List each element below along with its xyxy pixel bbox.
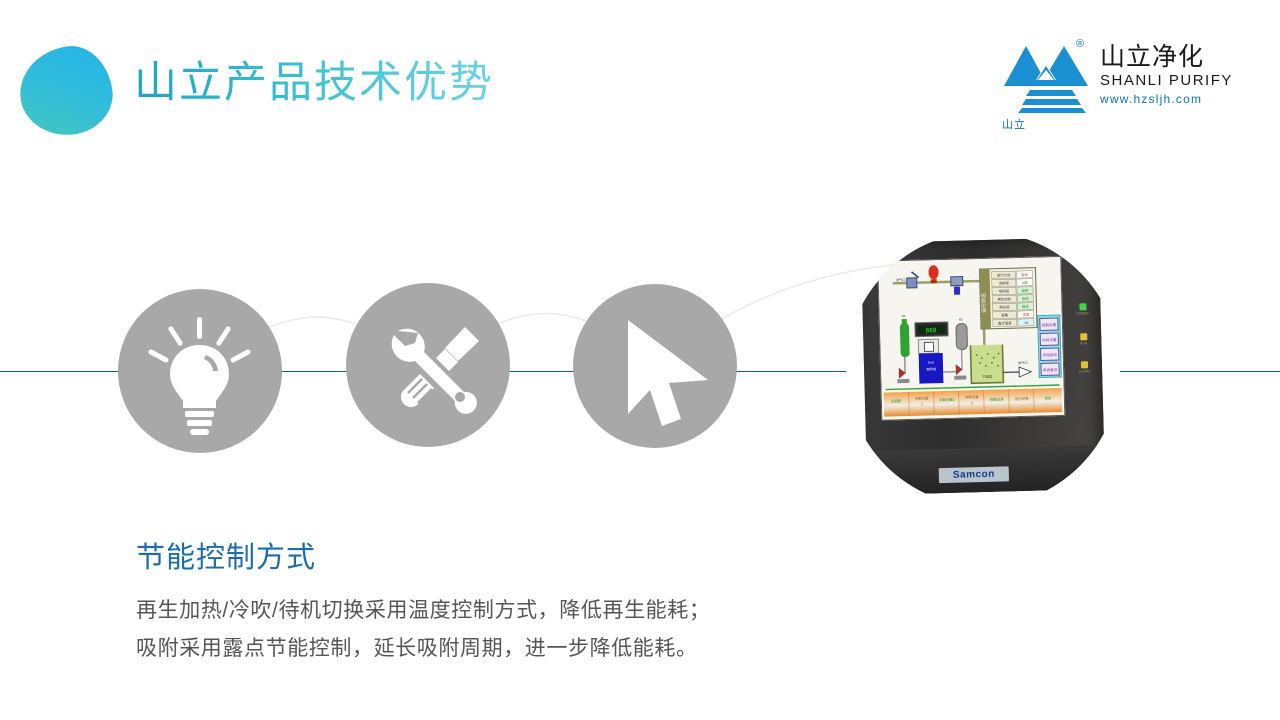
svg-text:运行状态: 运行状态 — [980, 293, 988, 313]
svg-text:888: 888 — [926, 327, 937, 334]
svg-text:吸附塔: 吸附塔 — [926, 366, 937, 371]
svg-text:报警记录: 报警记录 — [990, 396, 1004, 401]
logo-company-cn: 山立净化 — [1100, 44, 1225, 71]
svg-text:加热: 加热 — [1022, 296, 1030, 301]
svg-text:3: 3 — [971, 401, 973, 405]
logo-company-en: SHANLI PURIFY — [1100, 71, 1225, 91]
svg-text:A塔: A塔 — [1022, 280, 1028, 285]
svg-text:正常: 正常 — [1022, 312, 1030, 317]
hmi-schematic: 运行状态 运行方式当前塔 吸附塔再生加热 再生塔报警 露 — [878, 257, 1064, 420]
lightbulb-icon — [118, 289, 282, 453]
svg-text:参数设置2: 参数设置2 — [939, 397, 955, 402]
svg-text:进气口: 进气口 — [896, 277, 906, 282]
svg-text:露点温度: 露点温度 — [998, 320, 1012, 325]
hmi-panel-chin — [866, 445, 1105, 495]
svg-text:-40: -40 — [1023, 321, 1028, 325]
diagram-node-cursor[interactable] — [573, 284, 737, 448]
svg-text:R1: R1 — [902, 314, 906, 318]
power-led-label: POWER — [1073, 311, 1093, 316]
svg-text:时间设置: 时间设置 — [1042, 337, 1057, 342]
hmi-control-panel-photo: 运行状态 运行方式当前塔 吸附塔再生加热 再生塔报警 露 — [846, 232, 1120, 506]
hmi-brand-label: Samcon — [939, 466, 1009, 483]
body-text-line-2: 吸附采用露点节能控制，延长吸附周期，进一步降低能耗。 — [136, 632, 698, 662]
cursor-arrow-icon — [573, 284, 737, 448]
svg-text:R2: R2 — [959, 318, 963, 322]
power-led — [1079, 303, 1086, 310]
section-subheading: 节能控制方式 — [136, 534, 316, 576]
mountain-icon — [1000, 40, 1092, 114]
logo-wordmark: 山立净化 SHANLI PURIFY www.hzsljh.com — [1100, 44, 1225, 107]
horizontal-divider-line — [0, 371, 1280, 372]
svg-text:主画面: 主画面 — [891, 398, 902, 403]
alarm-led-label: ALARM — [1074, 369, 1094, 374]
logo-website: www.hzsljh.com — [1100, 91, 1225, 107]
svg-text:参数设置: 参数设置 — [965, 394, 979, 399]
svg-text:再生塔: 再生塔 — [999, 304, 1010, 309]
page-title: 山立产品技术优势 — [134, 58, 494, 110]
body-text-line-1: 再生加热/冷吹/待机切换采用温度控制方式，降低再生能耗； — [136, 594, 710, 624]
hmi-screen: 运行状态 运行方式当前塔 吸附塔再生加热 再生塔报警 露 — [877, 256, 1065, 421]
svg-text:运行记录: 运行记录 — [1015, 396, 1029, 401]
svg-text:再生: 再生 — [1022, 304, 1030, 309]
run-led-label: RUN — [1073, 341, 1093, 346]
decorative-blob — [14, 41, 117, 141]
slide-header: 山立产品技术优势 ® 山立 山立净化 SHANLI PURIFY www.hzs… — [0, 0, 1280, 150]
logo-mark-caption: 山立 — [1002, 116, 1026, 132]
svg-text:吸附: 吸附 — [1022, 288, 1030, 293]
wrench-screwdriver-icon — [346, 283, 510, 447]
svg-text:1: 1 — [921, 403, 923, 407]
diagram-node-tools[interactable] — [346, 283, 510, 447]
svg-text:系统复位: 系统复位 — [1043, 367, 1058, 372]
hmi-panel-body: 运行状态 运行方式当前塔 吸附塔再生加热 再生塔报警 露 — [861, 237, 1106, 495]
registered-mark: ® — [1076, 38, 1084, 50]
svg-text:控制设置: 控制设置 — [1042, 322, 1057, 327]
svg-text:运行方式: 运行方式 — [997, 272, 1011, 277]
svg-text:报警: 报警 — [1001, 312, 1009, 317]
svg-text:干燥塔: 干燥塔 — [982, 374, 993, 379]
alarm-led — [1081, 361, 1088, 368]
svg-text:手动启动: 手动启动 — [1042, 352, 1057, 357]
run-led — [1080, 333, 1087, 340]
svg-text:当前塔: 当前塔 — [999, 280, 1010, 285]
svg-text:吸附塔: 吸附塔 — [999, 288, 1010, 293]
diagram-node-lightbulb[interactable] — [118, 289, 282, 453]
svg-text:再生加热: 再生加热 — [997, 296, 1011, 301]
svg-text:自动: 自动 — [1021, 272, 1029, 277]
svg-text:Dust: Dust — [928, 360, 934, 364]
svg-text:参数设置: 参数设置 — [915, 395, 929, 400]
company-logo: ® 山立 山立净化 SHANLI PURIFY www.hzsljh.com — [1000, 38, 1222, 130]
svg-text:退出: 退出 — [1044, 395, 1052, 400]
svg-text:排气口: 排气口 — [1018, 360, 1028, 365]
